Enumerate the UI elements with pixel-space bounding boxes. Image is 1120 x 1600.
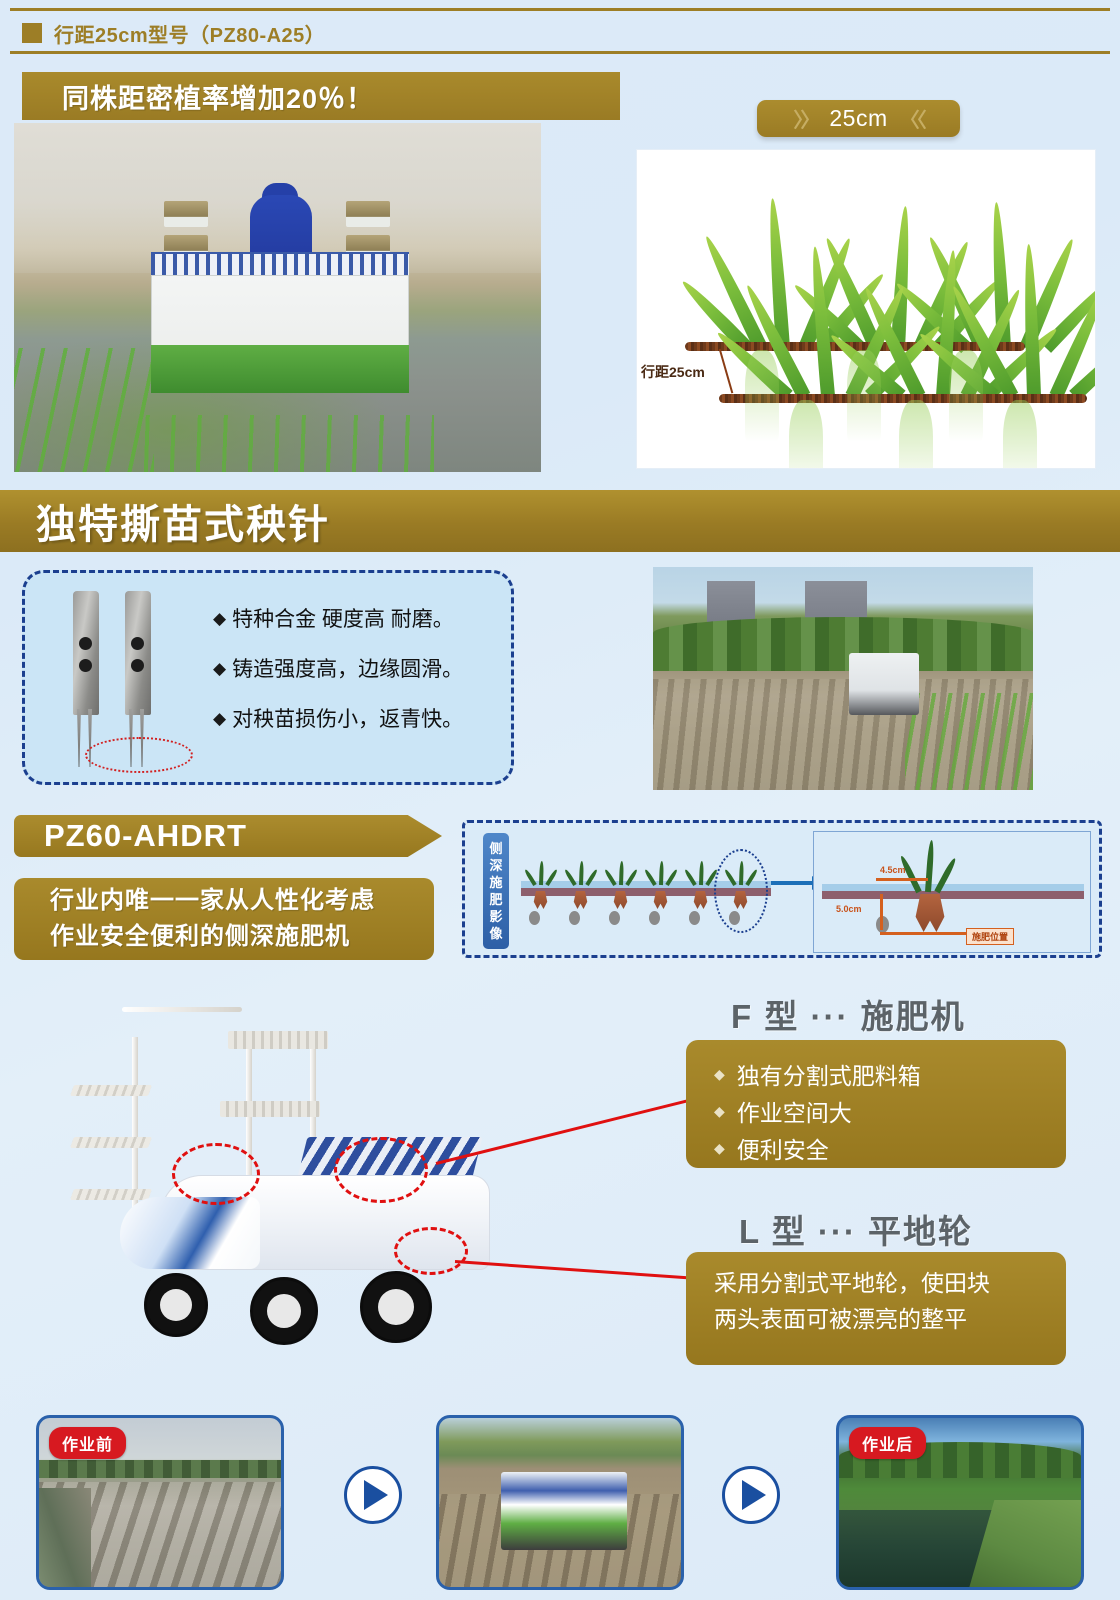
list-item: ◆ 特种合金 硬度高 耐磨。 [213, 603, 463, 633]
field-operation-photo [653, 567, 1033, 790]
fertilizer-vertical-label-char: 影 [489, 908, 502, 925]
needle-photo [63, 591, 181, 769]
fertilizer-vertical-label-char: 像 [489, 925, 502, 942]
fertilizer-pellet [529, 911, 540, 925]
needle-info-panel: ◆ 特种合金 硬度高 耐磨。 ◆ 铸造强度高，边缘圆滑。 ◆ 对秧苗损伤小，返青… [22, 570, 514, 785]
photo-machine-rail [151, 252, 409, 276]
pz60-subtitle-line: 行业内唯一一家从人性化考虑 [50, 883, 434, 919]
card-f-bullet: 独有分割式肥料箱 [737, 1057, 921, 1091]
fertilizer-vertical-label-char: 施 [489, 874, 502, 891]
card-l-leveling-wheel: 采用分割式平地轮，使田块 两头表面可被漂亮的整平 [686, 1252, 1066, 1365]
before-photo: 作业前 [36, 1415, 284, 1590]
chevron-right-icon: 〉〉 [793, 104, 817, 133]
seedling [910, 838, 944, 892]
horizontal-dimension-line [876, 878, 928, 881]
photo-treeline [653, 617, 1033, 671]
pz60-model-banner: PZ60-AHDRT [14, 815, 442, 857]
list-item: ◆ 作业空间大 [714, 1094, 1038, 1128]
planting-needle [73, 591, 99, 715]
side-deep-fertilizer-diagram: 侧 深 施 肥 影 像 [462, 820, 1102, 958]
rice-reflection [949, 350, 983, 442]
fertilizer-vertical-label-char: 侧 [489, 840, 502, 857]
list-item: ◆ 铸造强度高，边缘圆滑。 [213, 653, 463, 683]
list-item: ◆ 独有分割式肥料箱 [714, 1057, 1038, 1091]
seedling [531, 855, 551, 885]
row-dimension-arrow [719, 349, 734, 394]
fertilizer-vertical-label-char: 深 [489, 857, 502, 874]
model-line: 行距25cm型号（PZ80-A25） [22, 18, 325, 48]
photo-seedling-mat [151, 345, 409, 393]
pz60-subtitle-line: 作业安全便利的侧深施肥机 [50, 919, 434, 955]
needle-bullet-list: ◆ 特种合金 硬度高 耐磨。 ◆ 铸造强度高，边缘圆滑。 ◆ 对秧苗损伤小，返青… [213, 603, 463, 753]
needle-section-heading: 独特撕苗式秧针 [0, 490, 1120, 552]
diamond-bullet-icon: ◆ [714, 1140, 725, 1157]
photo-seedling-rows-left [14, 348, 154, 472]
row-spacing-diagram: 行距25cm [636, 149, 1096, 469]
needle-section-heading-text: 独特撕苗式秧针 [0, 492, 330, 550]
rice-reflection [789, 400, 823, 469]
needle-prong [77, 709, 81, 767]
card-title-f: F 型 ··· 施肥机 [731, 990, 966, 1038]
fertilizer-pellet [689, 911, 700, 925]
card-f-bullet: 作业空间大 [737, 1094, 852, 1128]
header-rule-top [10, 8, 1110, 11]
pz60-model-text: PZ60-AHDRT [14, 818, 247, 854]
photo-seed-tray [346, 201, 390, 227]
chevron-left-icon: 〈〈 [900, 104, 924, 133]
arrow-right-icon [771, 881, 813, 885]
planting-needle [125, 591, 151, 715]
spacing-badge-value: 25cm [829, 105, 887, 132]
diamond-bullet-icon: ◆ [213, 610, 226, 627]
pz60-subtitle-card: 行业内唯一一家从人性化考虑 作业安全便利的侧深施肥机 [14, 878, 434, 960]
sun-canopy-lower [220, 1101, 320, 1117]
seedling [691, 855, 711, 885]
rear-wheel [360, 1271, 432, 1343]
play-button-1[interactable] [344, 1466, 402, 1524]
annotation-circle-fertilizer-box [334, 1137, 428, 1203]
callout-line [880, 932, 968, 935]
seedling-rack-bar [70, 1085, 152, 1096]
fertilizer-pellet [609, 911, 620, 925]
model-label: 行距25cm型号（PZ80-A25） [54, 19, 325, 48]
vertical-dimension-label: 5.0cm [836, 904, 862, 914]
play-button-2[interactable] [722, 1466, 780, 1524]
seedling-rack-bar [70, 1137, 152, 1148]
card-l-paragraph-line: 采用分割式平地轮，使田块 [714, 1266, 1038, 1302]
seedling-rack-bar [70, 1189, 152, 1200]
header-rule-bottom [10, 51, 1110, 54]
card-f-fertilizer: ◆ 独有分割式肥料箱 ◆ 作业空间大 ◆ 便利安全 [686, 1040, 1066, 1168]
row-dimension-label: 行距25cm [641, 362, 705, 382]
spacing-badge: 〉〉 25cm 〈〈 [757, 100, 960, 137]
card-title-l: L 型 ··· 平地轮 [739, 1205, 973, 1253]
photo-transplanter [501, 1472, 627, 1550]
square-bullet-icon [22, 23, 42, 43]
fertilizer-position-label: 施肥位置 [966, 928, 1014, 945]
after-photo: 作业后 [836, 1415, 1084, 1590]
fertilizer-pellet [569, 911, 580, 925]
density-banner: 同株距密植率增加20％！ [22, 72, 620, 120]
machine-hero-photo [60, 985, 700, 1360]
zoom-highlight-ellipse [714, 849, 768, 933]
diamond-bullet-icon: ◆ [213, 660, 226, 677]
photo-transplanter [849, 653, 919, 715]
annotation-circle-leveling-wheel [394, 1227, 468, 1275]
frame-bar [122, 1007, 242, 1012]
needle-tip-highlight-circle [85, 737, 193, 773]
photo-seedling-rows-front [134, 415, 434, 472]
needle-bullet-text: 对秧苗损伤小，返青快。 [232, 703, 463, 733]
needle-bullet-text: 特种合金 硬度高 耐磨。 [232, 603, 454, 633]
photo-seed-tray [164, 201, 208, 227]
photo-planted-rows [905, 693, 1033, 790]
diamond-bullet-icon: ◆ [213, 710, 226, 727]
card-f-bullet: 便利安全 [737, 1131, 829, 1165]
card-l-paragraph-line: 两头表面可被漂亮的整平 [714, 1302, 1038, 1338]
before-tag: 作业前 [49, 1427, 126, 1459]
sun-canopy-top [228, 1031, 328, 1049]
rice-clump [892, 250, 1002, 396]
vertical-dimension-line [880, 894, 883, 930]
rice-clump [987, 244, 1096, 396]
fertilizer-pellet [649, 911, 660, 925]
density-banner-text: 同株距密植率增加20％！ [62, 77, 374, 116]
photo-treeline [39, 1460, 281, 1478]
seedling [571, 855, 591, 885]
rice-reflection [1003, 400, 1037, 469]
photo-ditch [39, 1488, 91, 1590]
annotation-circle-seat [172, 1143, 260, 1205]
list-item: ◆ 便利安全 [714, 1131, 1038, 1165]
rice-reflection [847, 350, 881, 442]
diamond-bullet-icon: ◆ [714, 1103, 725, 1120]
rice-reflection [745, 350, 779, 442]
soil-layer [822, 891, 1084, 899]
front-wheel [144, 1273, 208, 1337]
machine-hood [120, 1197, 260, 1269]
after-tag: 作业后 [849, 1427, 926, 1459]
play-triangle-icon [364, 1480, 388, 1510]
rear-wheel [250, 1277, 318, 1345]
hero-field-photo [14, 123, 541, 472]
seedling-root [914, 894, 946, 932]
during-photo [436, 1415, 684, 1590]
horizontal-dimension-label: 4.5cm [880, 865, 906, 875]
rice-reflection [899, 400, 933, 469]
diamond-bullet-icon: ◆ [714, 1066, 725, 1083]
list-item: ◆ 对秧苗损伤小，返青快。 [213, 703, 463, 733]
play-triangle-icon [742, 1480, 766, 1510]
water-layer [822, 884, 1084, 891]
fertilizer-vertical-label: 侧 深 施 肥 影 像 [483, 833, 509, 949]
seedling [611, 855, 631, 885]
seedling [651, 855, 671, 885]
fertilizer-vertical-label-char: 肥 [489, 891, 502, 908]
needle-bullet-text: 铸造强度高，边缘圆滑。 [232, 653, 463, 683]
header-rules: 行距25cm型号（PZ80-A25） [10, 8, 1110, 54]
fertilizer-detail-box: 4.5cm 5.0cm 施肥位置 [813, 831, 1091, 953]
